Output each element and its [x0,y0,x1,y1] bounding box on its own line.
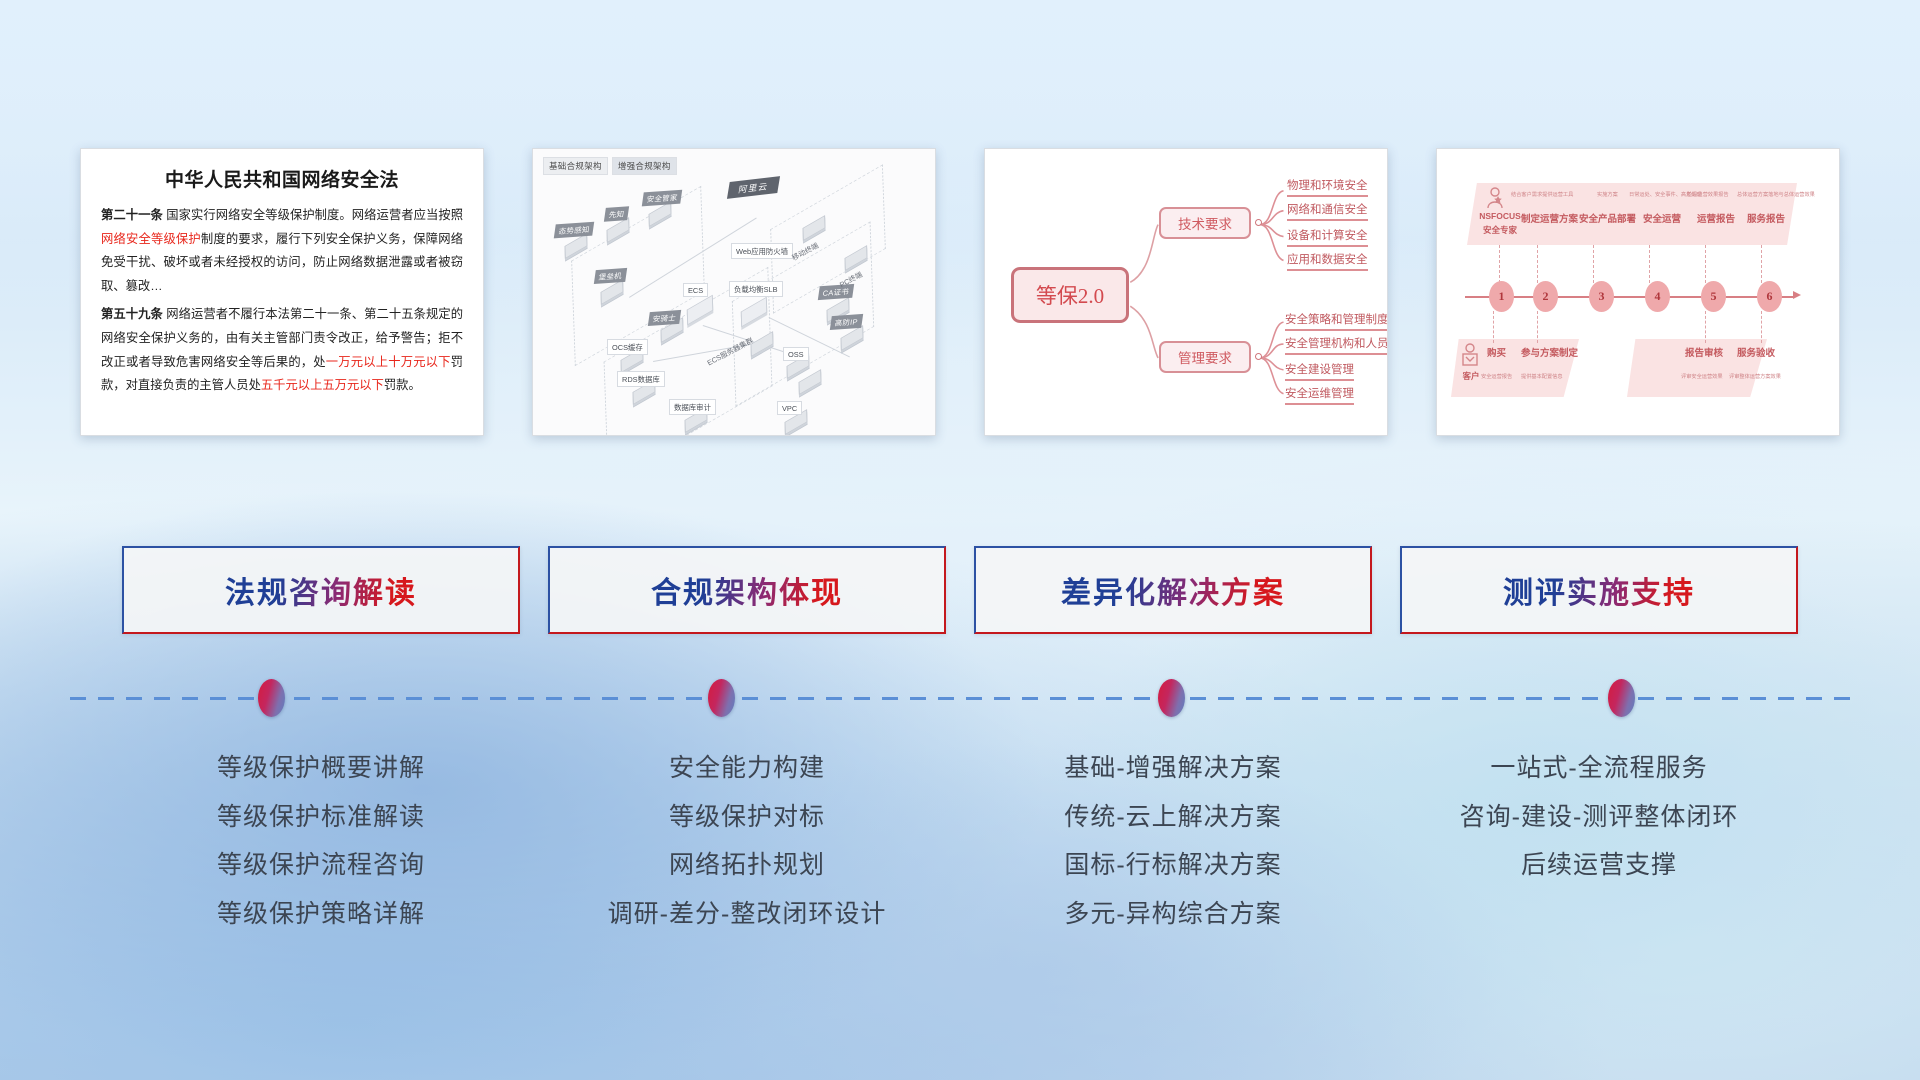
node-icon [799,369,822,395]
pillar-label: 测评实施支持 [1503,568,1695,612]
card-service-process[interactable]: NSFOCUS 安全专家 客户 结合客户需求提供运营工具 制定运营方案 实施方案… [1436,148,1840,436]
article-highlight-fine-1: 一万元以上十万元以下 [326,355,451,369]
process-arrow-icon [1793,291,1801,299]
article-text-after: 罚款。 [384,378,421,392]
process-connector [1499,245,1500,283]
timeline-marker-1[interactable] [258,679,285,717]
pillar-label: 差异化解决方案 [1061,568,1285,612]
detail-list-row: 等级保护概要讲解 等级保护标准解读 等级保护流程咨询 等级保护策略详解 安全能力… [0,740,1920,970]
timeline-marker-3[interactable] [1158,679,1185,717]
cloud-banner-label: 阿里云 [727,176,780,199]
card-cybersecurity-law[interactable]: 中华人民共和国网络安全法 第二十一条 国家实行网络安全等级保护制度。网络运营者应… [80,148,484,436]
mindmap-branch-management: 管理要求 [1159,341,1251,373]
process-connector [1493,311,1494,343]
process-step-number: 5 [1701,281,1726,312]
process-step-number: 1 [1489,281,1514,312]
process-bottom-sub: 评审安全运营效果 [1681,373,1723,380]
process-top-sub: 实施方案 [1597,191,1618,198]
process-top-sub: 总体运营方案落地与总体运营效果 [1737,191,1815,198]
process-bottom-title: 参与方案制定 [1521,345,1578,359]
node-label: Web应用防火墙 [731,243,793,259]
process-step-number: 4 [1645,281,1670,312]
law-title: 中华人民共和国网络安全法 [101,165,463,192]
node-label: OSS [783,347,809,361]
security-expert-icon [1485,187,1505,209]
node-label: OCS缓存 [607,339,648,355]
process-top-title: 安全运营 [1643,211,1681,225]
process-top-sub: 阶段运营效果报告 [1687,191,1729,198]
node-label: 安骑士 [648,310,681,326]
architecture-canvas: 阿里云 态势感知 [533,149,935,435]
node-label: 安全管家 [642,190,683,207]
process-step-number: 2 [1533,281,1558,312]
process-bottom-sub: 提供基本配置信息 [1521,373,1563,380]
process-connector [1537,311,1538,343]
process-axis-line [1465,296,1795,298]
article-highlight: 网络安全等级保护 [101,232,201,246]
process-connector [1761,245,1762,283]
process-bottom-title: 服务验收 [1737,345,1775,359]
mindmap-branch-technical: 技术要求 [1159,207,1251,239]
customer-icon [1461,343,1479,367]
list-item: 多元-异构综合方案 [1064,894,1281,935]
mindmap-leaf: 安全运维管理 [1285,385,1354,405]
list-item: 后续运营支撑 [1521,845,1677,886]
process-connector [1537,245,1538,283]
node-label: 数据库审计 [669,399,716,415]
list-item: 等级保护概要讲解 [217,748,425,789]
mindmap-leaf: 安全建设管理 [1285,361,1354,381]
node-label: RDS数据库 [617,371,665,387]
timeline-dashed-line [70,697,1850,700]
node-label: 负载均衡SLB [729,281,783,297]
node-label: ECS [683,283,708,297]
article-highlight-fine-2: 五千元以上五万元以下 [261,378,384,392]
article-number: 第二十一条 [101,208,163,222]
mindmap-leaf: 物理和环境安全 [1287,177,1368,197]
process-top-title: 运营报告 [1697,211,1735,225]
card-cloud-architecture[interactable]: 基础合规架构 增强合规架构 阿里云 [532,148,936,436]
preview-card-row: 中华人民共和国网络安全法 第二十一条 国家实行网络安全等级保护制度。网络运营者应… [0,148,1920,448]
node-label: 态势感知 [554,222,595,239]
law-article-59: 第五十九条 网络运营者不履行本法第二十一条、第二十五条规定的网络安全保护义务的，… [101,303,463,397]
list-item: 等级保护标准解读 [217,797,425,838]
pillar-box-differentiated-solution[interactable]: 差异化解决方案 [974,546,1372,634]
process-top-sub: 结合客户需求提供运营工具 [1511,191,1573,198]
list-item: 网络拓扑规划 [669,845,825,886]
list-item: 等级保护对标 [669,797,825,838]
pillar-label: 合规架构体现 [651,568,843,612]
list-item: 国标-行标解决方案 [1064,845,1281,886]
process-connector [1593,245,1594,283]
process-bottom-sub: 评审整体运营方案效果 [1729,373,1781,380]
pillar-box-regulation-consulting[interactable]: 法规咨询解读 [122,546,520,634]
detail-list-compliance-architecture: 安全能力构建 等级保护对标 网络拓扑规划 调研-差分-整改闭环设计 [548,740,946,970]
list-item: 等级保护流程咨询 [217,845,425,886]
process-bottom-sub: 安全运营报告 [1481,373,1512,380]
pillar-box-assessment-support[interactable]: 测评实施支持 [1400,546,1798,634]
list-item: 咨询-建设-测评整体闭环 [1460,797,1739,838]
detail-list-regulation-consulting: 等级保护概要讲解 等级保护标准解读 等级保护流程咨询 等级保护策略详解 [122,740,520,970]
article-text-before: 国家实行网络安全等级保护制度。网络运营者应当按照 [163,208,463,222]
process-connector [1649,245,1650,283]
brand-subtitle: 安全专家 [1471,225,1529,236]
process-bottom-title: 报告审核 [1685,345,1723,359]
detail-list-differentiated-solution: 基础-增强解决方案 传统-云上解决方案 国标-行标解决方案 多元-异构综合方案 [974,740,1372,970]
list-item: 传统-云上解决方案 [1064,797,1281,838]
mindmap-leaf: 安全策略和管理制度 [1285,311,1388,331]
process-connector [1761,311,1762,343]
mindmap-leaf: 应用和数据安全 [1287,251,1368,271]
mindmap-leaf: 安全管理机构和人员 [1285,335,1388,355]
mindmap-root-node: 等保2.0 [1011,267,1129,323]
process-step-number: 3 [1589,281,1614,312]
pillar-box-compliance-architecture[interactable]: 合规架构体现 [548,546,946,634]
process-top-title: 服务报告 [1747,211,1785,225]
pillar-header-row: 法规咨询解读 合规架构体现 差异化解决方案 测评实施支持 [0,546,1920,638]
list-item: 调研-差分-整改闭环设计 [608,894,887,935]
node-label: 先知 [604,206,629,222]
timeline-marker-4[interactable] [1608,679,1635,717]
node-label: VPC [777,401,802,415]
process-top-title: 制定运营方案 [1521,211,1578,225]
pillar-label: 法规咨询解读 [225,568,417,612]
mindmap-collapse-icon[interactable] [1255,219,1262,226]
mindmap-leaf: 网络和通信安全 [1287,201,1368,221]
node-label: 堡垒机 [594,268,627,284]
mindmap-collapse-icon[interactable] [1255,353,1262,360]
process-bottom-title: 购买 [1487,345,1506,359]
process-connector [1705,311,1706,343]
mindmap-leaf: 设备和计算安全 [1287,227,1368,247]
process-step-number: 6 [1757,281,1782,312]
card-mindmap-dengbao[interactable]: 等保2.0 技术要求 物理和环境安全 网络和通信安全 设备和计算安全 应用和数据… [984,148,1388,436]
process-top-title: 安全产品部署 [1579,211,1636,225]
law-article-21: 第二十一条 国家实行网络安全等级保护制度。网络运营者应当按照网络安全等级保护制度… [101,204,463,298]
article-number: 第五十九条 [101,307,163,321]
slide-stage: 中华人民共和国网络安全法 第二十一条 国家实行网络安全等级保护制度。网络运营者应… [0,0,1920,1080]
detail-list-assessment-support: 一站式-全流程服务 咨询-建设-测评整体闭环 后续运营支撑 [1400,740,1798,970]
timeline-marker-2[interactable] [708,679,735,717]
list-item: 安全能力构建 [669,748,825,789]
list-item: 一站式-全流程服务 [1490,748,1707,789]
process-connector [1705,245,1706,283]
list-item: 等级保护策略详解 [217,894,425,935]
node-label: 高防IP [830,314,863,330]
list-item: 基础-增强解决方案 [1064,748,1281,789]
